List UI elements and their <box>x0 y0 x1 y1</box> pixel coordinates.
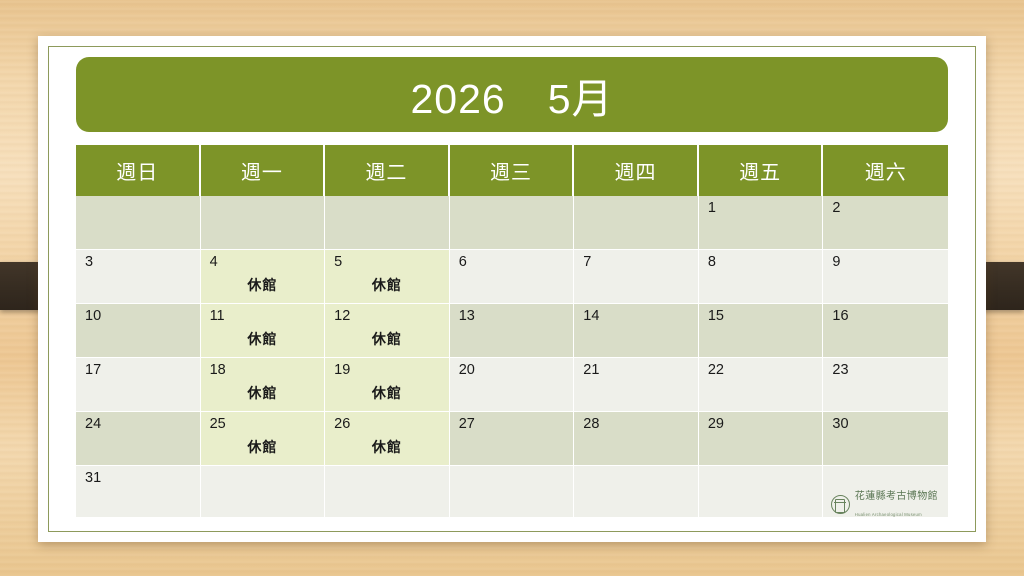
calendar-day-cell[interactable]: 4休館 <box>201 250 326 304</box>
calendar-day-cell[interactable]: 27 <box>450 412 575 466</box>
calendar-day-cell[interactable]: 3 <box>76 250 201 304</box>
day-number: 24 <box>85 417 200 432</box>
closed-badge: 休館 <box>325 329 449 349</box>
calendar-day-cell[interactable]: 8 <box>699 250 824 304</box>
calendar-day-cell[interactable]: 6 <box>450 250 575 304</box>
day-number: 31 <box>85 471 200 486</box>
day-number: 17 <box>85 363 200 378</box>
closed-badge: 休館 <box>201 275 325 295</box>
calendar-week-row: 31 <box>76 466 948 518</box>
calendar-day-cell[interactable]: 1 <box>699 196 824 250</box>
calendar-title-bar: 2026 5月 <box>76 57 948 132</box>
calendar-empty-cell <box>325 196 450 250</box>
day-number: 18 <box>210 363 325 378</box>
day-number: 23 <box>832 363 948 378</box>
day-number: 25 <box>210 417 325 432</box>
weekday-header-sun: 週日 <box>76 145 201 196</box>
page-title: 2026 5月 <box>410 65 613 125</box>
closed-badge: 休館 <box>201 383 325 403</box>
day-number: 6 <box>459 255 574 270</box>
calendar-week-row: 12 <box>76 196 948 250</box>
museum-name-cn: 花蓮縣考古博物館 <box>855 491 938 502</box>
closed-badge: 休館 <box>325 437 449 457</box>
calendar-week-row: 1718休館19休館20212223 <box>76 358 948 412</box>
day-number: 13 <box>459 309 574 324</box>
day-number: 29 <box>708 417 823 432</box>
calendar-week-row: 2425休館26休館27282930 <box>76 412 948 466</box>
calendar-empty-cell <box>574 196 699 250</box>
museum-logo-text: 花蓮縣考古博物館 Hualien Archaeological Museum <box>855 487 938 521</box>
day-number: 30 <box>832 417 948 432</box>
day-number: 16 <box>832 309 948 324</box>
day-number: 8 <box>708 255 823 270</box>
calendar-day-cell[interactable]: 13 <box>450 304 575 358</box>
calendar-day-cell[interactable]: 17 <box>76 358 201 412</box>
day-number: 3 <box>85 255 200 270</box>
day-number: 9 <box>832 255 948 270</box>
calendar-day-cell[interactable]: 24 <box>76 412 201 466</box>
slide-canvas: 2026 5月 週日 週一 週二 週三 週四 週五 週六 1234休館5休館67… <box>0 0 1024 576</box>
day-number: 28 <box>583 417 698 432</box>
calendar-day-cell[interactable]: 7 <box>574 250 699 304</box>
calendar-day-cell[interactable]: 5休館 <box>325 250 450 304</box>
weekday-header-fri: 週五 <box>699 145 824 196</box>
day-number: 7 <box>583 255 698 270</box>
day-number: 11 <box>210 309 325 324</box>
calendar-content: 2026 5月 週日 週一 週二 週三 週四 週五 週六 1234休館5休館67… <box>76 57 948 523</box>
museum-seal-icon <box>831 495 850 514</box>
calendar-day-cell[interactable]: 25休館 <box>201 412 326 466</box>
calendar-empty-cell <box>201 196 326 250</box>
weekday-header-wed: 週三 <box>450 145 575 196</box>
calendar-day-cell[interactable]: 11休館 <box>201 304 326 358</box>
weekday-header-thu: 週四 <box>574 145 699 196</box>
calendar-day-cell[interactable]: 18休館 <box>201 358 326 412</box>
calendar-day-cell[interactable]: 15 <box>699 304 824 358</box>
day-number: 10 <box>85 309 200 324</box>
calendar-day-cell[interactable]: 16 <box>823 304 948 358</box>
weekday-header-row: 週日 週一 週二 週三 週四 週五 週六 <box>76 145 948 196</box>
calendar-week-row: 34休館5休館6789 <box>76 250 948 304</box>
calendar-day-cell[interactable]: 12休館 <box>325 304 450 358</box>
calendar-day-cell[interactable]: 29 <box>699 412 824 466</box>
calendar-day-cell[interactable]: 21 <box>574 358 699 412</box>
calendar-empty-cell <box>325 466 450 518</box>
calendar-day-cell[interactable]: 23 <box>823 358 948 412</box>
closed-badge: 休館 <box>201 329 325 349</box>
day-number: 5 <box>334 255 449 270</box>
day-number: 1 <box>708 201 823 216</box>
day-number: 20 <box>459 363 574 378</box>
calendar-week-row: 1011休館12休館13141516 <box>76 304 948 358</box>
calendar-day-cell[interactable]: 9 <box>823 250 948 304</box>
calendar-day-cell[interactable]: 28 <box>574 412 699 466</box>
weekday-header-sat: 週六 <box>823 145 948 196</box>
day-number: 12 <box>334 309 449 324</box>
weekday-header-tue: 週二 <box>325 145 450 196</box>
day-number: 27 <box>459 417 574 432</box>
closed-badge: 休館 <box>325 275 449 295</box>
closed-badge: 休館 <box>201 437 325 457</box>
museum-logo: 花蓮縣考古博物館 Hualien Archaeological Museum <box>831 487 938 521</box>
calendar-empty-cell <box>574 466 699 518</box>
calendar-empty-cell <box>450 196 575 250</box>
weekday-header-mon: 週一 <box>201 145 326 196</box>
day-number: 19 <box>334 363 449 378</box>
day-number: 21 <box>583 363 698 378</box>
calendar-day-cell[interactable]: 22 <box>699 358 824 412</box>
day-number: 22 <box>708 363 823 378</box>
day-number: 2 <box>832 201 948 216</box>
day-number: 15 <box>708 309 823 324</box>
calendar-body: 1234休館5休館67891011休館12休館131415161718休館19休… <box>76 196 948 518</box>
calendar-day-cell[interactable]: 31 <box>76 466 201 518</box>
day-number: 26 <box>334 417 449 432</box>
calendar-day-cell[interactable]: 26休館 <box>325 412 450 466</box>
calendar-day-cell[interactable]: 10 <box>76 304 201 358</box>
calendar-day-cell[interactable]: 14 <box>574 304 699 358</box>
calendar-empty-cell <box>450 466 575 518</box>
calendar-day-cell[interactable]: 2 <box>823 196 948 250</box>
calendar-card: 2026 5月 週日 週一 週二 週三 週四 週五 週六 1234休館5休館67… <box>38 36 986 542</box>
calendar-empty-cell <box>201 466 326 518</box>
calendar-table: 週日 週一 週二 週三 週四 週五 週六 1234休館5休館67891011休館… <box>76 145 948 518</box>
calendar-day-cell[interactable]: 20 <box>450 358 575 412</box>
calendar-day-cell[interactable]: 19休館 <box>325 358 450 412</box>
day-number: 4 <box>210 255 325 270</box>
closed-badge: 休館 <box>325 383 449 403</box>
calendar-day-cell[interactable]: 30 <box>823 412 948 466</box>
calendar-empty-cell <box>76 196 201 250</box>
day-number: 14 <box>583 309 698 324</box>
museum-name-en: Hualien Archaeological Museum <box>855 512 922 517</box>
calendar-empty-cell <box>699 466 824 518</box>
